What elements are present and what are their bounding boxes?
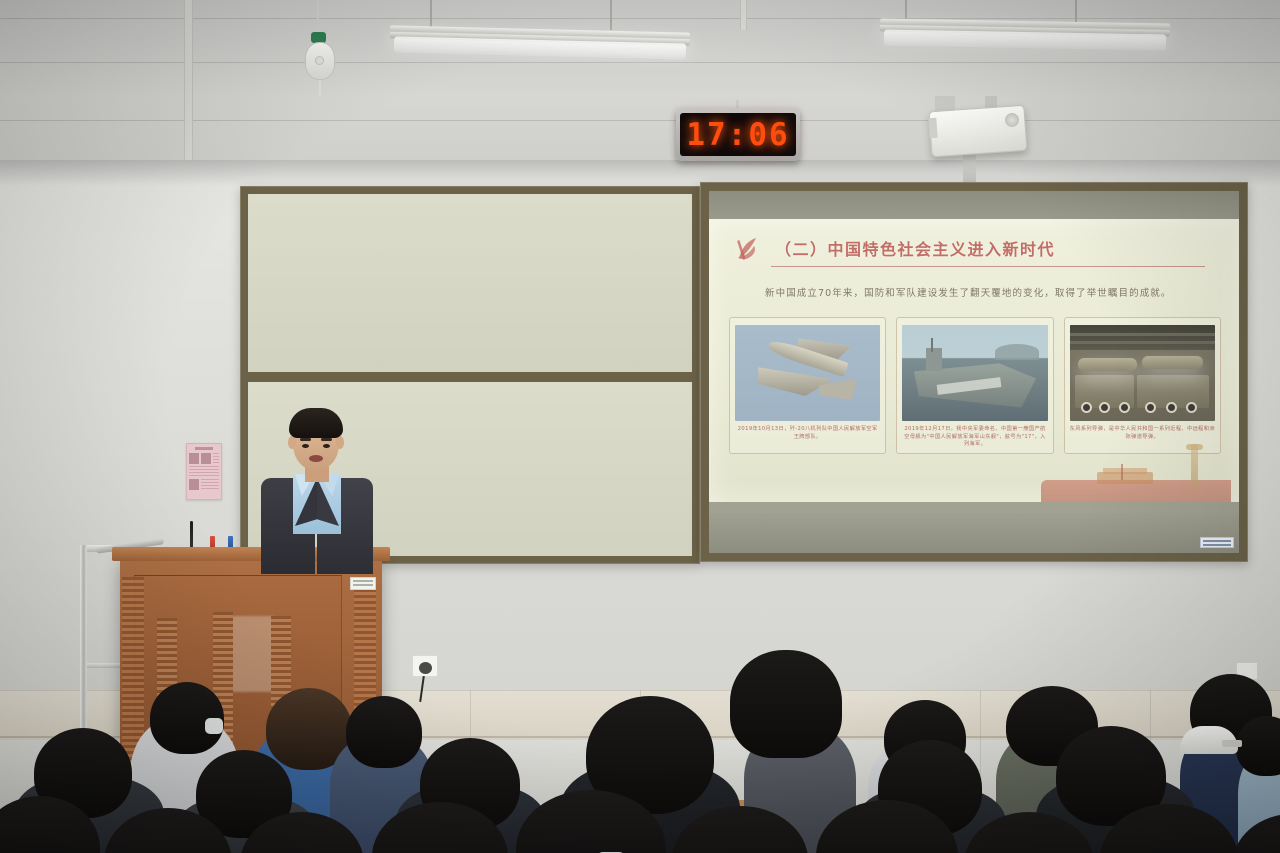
presentation-slide: （二）中国特色社会主义进入新时代 新中国成立70年来，国防和军队建设发生了翻天覆… bbox=[709, 219, 1239, 502]
slide-title: （二）中国特色社会主义进入新时代 bbox=[775, 236, 1055, 260]
j20-fighter-jet-photo bbox=[735, 325, 880, 421]
photo-card: 东风系列导弹，是中华人民共和国一系列近程、中远程和洲际弹道导弹。 bbox=[1064, 317, 1221, 454]
slide-title-underline bbox=[771, 266, 1205, 267]
lecture-hall-scene: 17:06 （二）中国特色社会主义进入新时代 bbox=[0, 0, 1280, 853]
photo-caption: 东风系列导弹，是中华人民共和国一系列近程、中远程和洲际弹道导弹。 bbox=[1070, 426, 1215, 441]
projector-vent bbox=[928, 118, 937, 139]
presenter-hair bbox=[289, 408, 343, 438]
whiteboard-rail bbox=[248, 372, 692, 382]
projection-board: （二）中国特色社会主义进入新时代 新中国成立70年来，国防和军队建设发生了翻天覆… bbox=[700, 182, 1248, 562]
wall-poster bbox=[186, 443, 222, 500]
photo-card: 2019年12月17日，我中央军委命名、中国第一艘国产航空母舰为"中国人民解放军… bbox=[896, 317, 1053, 454]
presenter bbox=[255, 408, 379, 568]
photo-card: 2019年10月13日，歼-20八机列队中国人民解放军空军王牌部队。 bbox=[729, 317, 886, 454]
ceiling-conduit bbox=[184, 0, 193, 182]
board-id-label bbox=[1200, 537, 1234, 548]
slide-body-text: 新中国成立70年来，国防和军队建设发生了翻天覆地的变化，取得了举世瞩目的成就。 bbox=[765, 285, 1209, 299]
ceiling-conduit-2 bbox=[740, 0, 747, 30]
photo-caption: 2019年10月13日，歼-20八机列队中国人民解放军空军王牌部队。 bbox=[735, 426, 880, 441]
projection-screen: （二）中国特色社会主义进入新时代 新中国成立70年来，国防和军队建设发生了翻天覆… bbox=[709, 191, 1239, 553]
slide-header: （二）中国特色社会主义进入新时代 bbox=[735, 233, 1213, 269]
tiananmen-gate-watermark bbox=[1041, 450, 1231, 502]
dongfeng-missile-launcher-photo bbox=[1070, 325, 1215, 421]
digital-clock: 17:06 bbox=[676, 108, 800, 161]
shandong-aircraft-carrier-photo bbox=[902, 325, 1047, 421]
audience bbox=[0, 600, 1280, 853]
podium-asset-label bbox=[350, 577, 376, 590]
photo-caption: 2019年12月17日，我中央军委命名、中国第一艘国产航空母舰为"中国人民解放军… bbox=[902, 426, 1047, 449]
slide-photo-cards: 2019年10月13日，歼-20八机列队中国人民解放军空军王牌部队。 2019年… bbox=[729, 317, 1221, 454]
ccp-hammer-sickle-emblem bbox=[735, 235, 761, 263]
whiteboard-panel-top bbox=[248, 194, 692, 372]
clock-time-display: 17:06 bbox=[686, 117, 789, 153]
